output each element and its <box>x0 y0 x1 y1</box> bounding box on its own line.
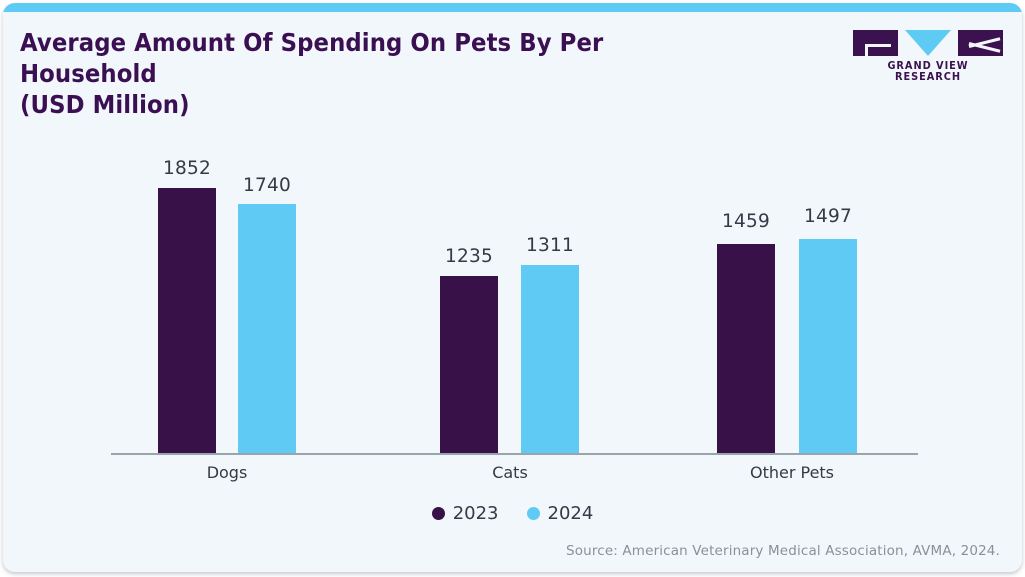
bar-dogs-2024[interactable] <box>238 204 296 453</box>
bar-dogs-2023[interactable] <box>158 188 216 453</box>
bar-other-pets-2024[interactable] <box>799 239 857 453</box>
x-axis-line <box>111 453 918 455</box>
chart-legend: 2023 2024 <box>3 503 1022 524</box>
bar-value-dogs-2023: 1852 <box>142 158 232 179</box>
bar-chart-plot: 1852 1740 Dogs 1235 1311 Cats 1459 1497 … <box>3 3 1022 572</box>
bar-value-cats-2023: 1235 <box>424 246 514 267</box>
chart-card: Average Amount Of Spending On Pets By Pe… <box>3 3 1022 572</box>
bar-cats-2024[interactable] <box>521 265 579 453</box>
legend-dot-2023-icon <box>432 507 445 520</box>
bar-value-dogs-2024: 1740 <box>222 175 312 196</box>
source-note: Source: American Veterinary Medical Asso… <box>566 543 1000 559</box>
bar-value-cats-2024: 1311 <box>505 235 595 256</box>
bar-other-pets-2023[interactable] <box>717 244 775 453</box>
bar-cats-2023[interactable] <box>440 276 498 453</box>
legend-item-2024[interactable]: 2024 <box>527 503 594 524</box>
legend-item-2023[interactable]: 2023 <box>432 503 499 524</box>
bar-value-other-pets-2024: 1497 <box>783 206 873 227</box>
legend-dot-2024-icon <box>527 507 540 520</box>
category-label-other-pets: Other Pets <box>702 463 882 482</box>
legend-label-2023: 2023 <box>453 503 499 524</box>
category-label-cats: Cats <box>420 463 600 482</box>
bar-value-other-pets-2023: 1459 <box>701 211 791 232</box>
legend-label-2024: 2024 <box>548 503 594 524</box>
category-label-dogs: Dogs <box>137 463 317 482</box>
